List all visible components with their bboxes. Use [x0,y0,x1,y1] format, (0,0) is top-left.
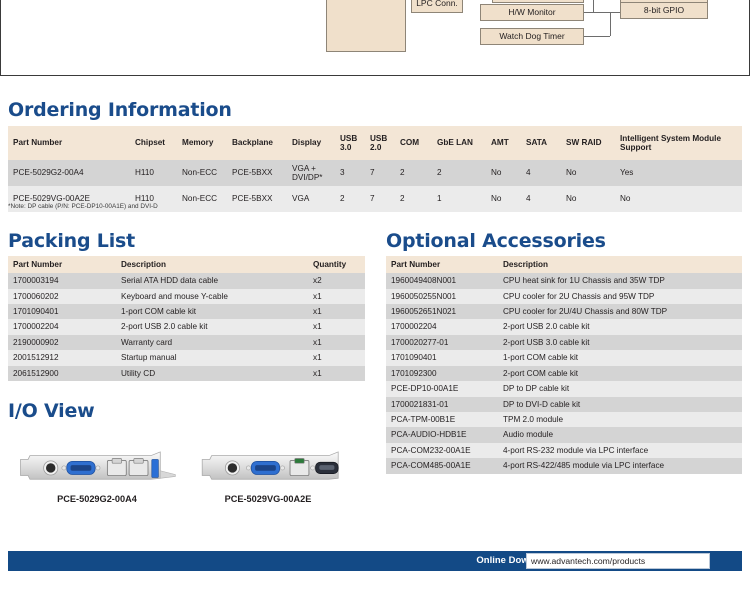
optional-cell-part-number: PCA-TPM-00B1E [386,412,498,427]
col-com: COM [395,126,432,160]
optional-accessories-body: 1960049408N001CPU heat sink for 1U Chass… [386,273,742,473]
hw-monitor-to-gpio [584,12,620,13]
optional-cell-part-number: 1700020277-01 [386,335,498,350]
ordering-information-table: Part Number Chipset Memory Backplane Dis… [8,126,742,212]
right-trunk-vertical [610,12,611,36]
ordering-cell-usb20: 7 [365,160,395,186]
packing-cell-description: Serial ATA HDD data cable [116,273,308,288]
col-pl-part-number: Part Number [8,256,116,273]
optional-cell-part-number: 1701090401 [386,350,498,365]
col-chipset: Chipset [130,126,177,160]
io-bracket-pce-5029vg-00a2e [196,450,351,484]
optional-cell-description: CPU cooler for 2U Chassis and 95W TDP [498,289,742,304]
packing-cell-quantity: x1 [308,366,365,381]
packing-cell-description: 2-port USB 2.0 cable kit [116,319,308,334]
ordering-cell-com: 2 [395,186,432,212]
col-usb-20: USB 2.0 [365,126,395,160]
io-caption-1: PCE-5029G2-00A4 [14,494,180,504]
optional-accessories-row: PCE-DP10-00A1EDP to DP cable kit [386,381,742,396]
ordering-cell-part-number: PCE-5029G2-00A4 [8,160,130,186]
col-memory: Memory [177,126,227,160]
packing-cell-part-number: 2190000902 [8,335,116,350]
diagram-box-watch-dog-timer: Watch Dog Timer [480,28,584,45]
ordering-cell-display: VGA + DVI/DP* [287,160,335,186]
ordering-note: *Note: DP cable (P/N: PCE-DP10-00A1E) an… [8,203,158,210]
col-ism-support: Intelligent System Module Support [615,126,742,160]
ordering-header-row: Part Number Chipset Memory Backplane Dis… [8,126,742,160]
packing-header-row: Part Number Description Quantity [8,256,365,273]
packing-list-row: 1700003194Serial ATA HDD data cablex2 [8,273,365,288]
optional-cell-description: DP to DVI-D cable kit [498,397,742,412]
packing-cell-part-number: 2061512900 [8,366,116,381]
ordering-cell-backplane: PCE-5BXX [227,160,287,186]
optional-cell-description: DP to DP cable kit [498,381,742,396]
optional-accessories-row: PCA-COM485-00A1E4-port RS-422/485 module… [386,458,742,473]
left-trunk-vertical [593,0,594,12]
optional-accessories-row: 17010904011-port COM cable kit [386,350,742,365]
ordering-cell-ism-support: No [615,186,742,212]
ordering-cell-gbe-lan: 2 [432,160,486,186]
packing-list-row: 2001512912Startup manualx1 [8,350,365,365]
col-backplane: Backplane [227,126,287,160]
packing-list-row: 2190000902Warranty cardx1 [8,335,365,350]
ordering-cell-ism-support: Yes [615,160,742,186]
optional-accessories-row: PCA-COM232-00A1E4-port RS-232 module via… [386,443,742,458]
ordering-cell-amt: No [486,160,521,186]
col-gbe-lan: GbE LAN [432,126,486,160]
footer-url-link[interactable]: www.advantech.com/products [531,556,645,566]
wdt-to-trunk [584,36,610,37]
optional-cell-description: 2-port USB 3.0 cable kit [498,335,742,350]
io-bracket-pce-5029g2-00a4 [14,450,180,484]
packing-cell-quantity: x1 [308,335,365,350]
io-view-heading: I/O View [8,400,95,422]
col-pl-description: Description [116,256,308,273]
ordering-cell-usb30: 3 [335,160,365,186]
packing-cell-description: Warranty card [116,335,308,350]
ordering-table-row: PCE-5029G2-00A4H110Non-ECCPCE-5BXXVGA + … [8,160,742,186]
packing-cell-part-number: 1700003194 [8,273,116,288]
optional-cell-description: Audio module [498,427,742,442]
col-part-number: Part Number [8,126,130,160]
optional-accessories-row: 1960050255N001CPU cooler for 2U Chassis … [386,289,742,304]
packing-cell-part-number: 1700002204 [8,319,116,334]
ordering-cell-display: VGA [287,186,335,212]
ordering-cell-amt: No [486,186,521,212]
ordering-cell-gbe-lan: 1 [432,186,486,212]
optional-accessories-row: 17010923002-port COM cable kit [386,366,742,381]
optional-cell-description: 2-port COM cable kit [498,366,742,381]
packing-cell-description: 1-port COM cable kit [116,304,308,319]
ordering-cell-sw-raid: No [561,160,615,186]
optional-header-row: Part Number Description [386,256,742,273]
optional-cell-part-number: PCA-AUDIO-HDB1E [386,427,498,442]
ordering-cell-usb30: 2 [335,186,365,212]
col-display: Display [287,126,335,160]
packing-cell-description: Startup manual [116,350,308,365]
packing-list-heading: Packing List [8,230,135,252]
optional-accessories-heading: Optional Accessories [386,230,606,252]
io-caption-2: PCE-5029VG-00A2E [190,494,346,504]
ordering-cell-backplane: PCE-5BXX [227,186,287,212]
ordering-cell-sata: 4 [521,160,561,186]
optional-accessories-row: PCA-TPM-00B1ETPM 2.0 module [386,412,742,427]
col-pl-quantity: Quantity [308,256,365,273]
optional-cell-description: 4-port RS-422/485 module via LPC interfa… [498,458,742,473]
packing-cell-quantity: x2 [308,273,365,288]
optional-cell-description: 2-port USB 2.0 cable kit [498,319,742,334]
optional-accessories-row: 1700021831-01DP to DVI-D cable kit [386,397,742,412]
packing-cell-description: Utility CD [116,366,308,381]
col-sw-raid: SW RAID [561,126,615,160]
optional-cell-part-number: PCE-DP10-00A1E [386,381,498,396]
diagram-box-lpc-conn: LPC Conn. [411,0,463,13]
optional-cell-description: CPU cooler for 2U/4U Chassis and 80W TDP [498,304,742,319]
diagram-box-chipset-block [326,0,406,52]
ordering-cell-chipset: H110 [130,160,177,186]
packing-cell-description: Keyboard and mouse Y-cable [116,289,308,304]
optional-accessories-row: 1960052651N021 CPU cooler for 2U/4U Chas… [386,304,742,319]
packing-list-row: 1700060202Keyboard and mouse Y-cablex1 [8,289,365,304]
ordering-cell-sw-raid: No [561,186,615,212]
packing-list-table: Part Number Description Quantity 1700003… [8,256,365,381]
optional-cell-description: CPU heat sink for 1U Chassis and 35W TDP [498,273,742,288]
col-amt: AMT [486,126,521,160]
ordering-cell-memory: Non-ECC [177,186,227,212]
packing-cell-part-number: 2001512912 [8,350,116,365]
packing-list-row: 2061512900Utility CDx1 [8,366,365,381]
optional-accessories-row: 1960049408N001CPU heat sink for 1U Chass… [386,273,742,288]
packing-list-row: 17010904011-port COM cable kitx1 [8,304,365,319]
col-oa-description: Description [498,256,742,273]
diagram-box-8-bit-gpio: 8-bit GPIO [620,2,708,19]
optional-cell-part-number: 1700002204 [386,319,498,334]
optional-cell-description: 1-port COM cable kit [498,350,742,365]
col-usb-30: USB 3.0 [335,126,365,160]
optional-cell-part-number: 1960050255N001 [386,289,498,304]
optional-cell-part-number: 1960049408N001 [386,273,498,288]
col-oa-part-number: Part Number [386,256,498,273]
packing-cell-quantity: x1 [308,350,365,365]
optional-cell-part-number: PCA-COM485-00A1E [386,458,498,473]
optional-cell-description: 4-port RS-232 module via LPC interface [498,443,742,458]
optional-cell-part-number: 1700021831-01 [386,397,498,412]
optional-accessories-row: PCA-AUDIO-HDB1EAudio module [386,427,742,442]
optional-cell-part-number: 1960052651N021 [386,304,498,319]
ordering-information-heading: Ordering Information [8,99,232,121]
packing-cell-quantity: x1 [308,304,365,319]
packing-list-body: 1700003194Serial ATA HDD data cablex2170… [8,273,365,381]
optional-accessories-row: 17000022042-port USB 2.0 cable kit [386,319,742,334]
optional-accessories-table: Part Number Description 1960049408N001CP… [386,256,742,474]
packing-cell-quantity: x1 [308,319,365,334]
packing-cell-part-number: 1701090401 [8,304,116,319]
packing-cell-part-number: 1700060202 [8,289,116,304]
ordering-cell-com: 2 [395,160,432,186]
optional-accessories-row: 1700020277-012-port USB 3.0 cable kit [386,335,742,350]
optional-cell-part-number: 1701092300 [386,366,498,381]
optional-cell-description: TPM 2.0 module [498,412,742,427]
optional-cell-part-number: PCA-COM232-00A1E [386,443,498,458]
ordering-cell-sata: 4 [521,186,561,212]
packing-list-row: 17000022042-port USB 2.0 cable kitx1 [8,319,365,334]
ordering-cell-usb20: 7 [365,186,395,212]
packing-cell-quantity: x1 [308,289,365,304]
col-sata: SATA [521,126,561,160]
diagram-box-top-partial-left [492,0,584,3]
ordering-cell-memory: Non-ECC [177,160,227,186]
diagram-box-hw-monitor: H/W Monitor [480,4,584,21]
